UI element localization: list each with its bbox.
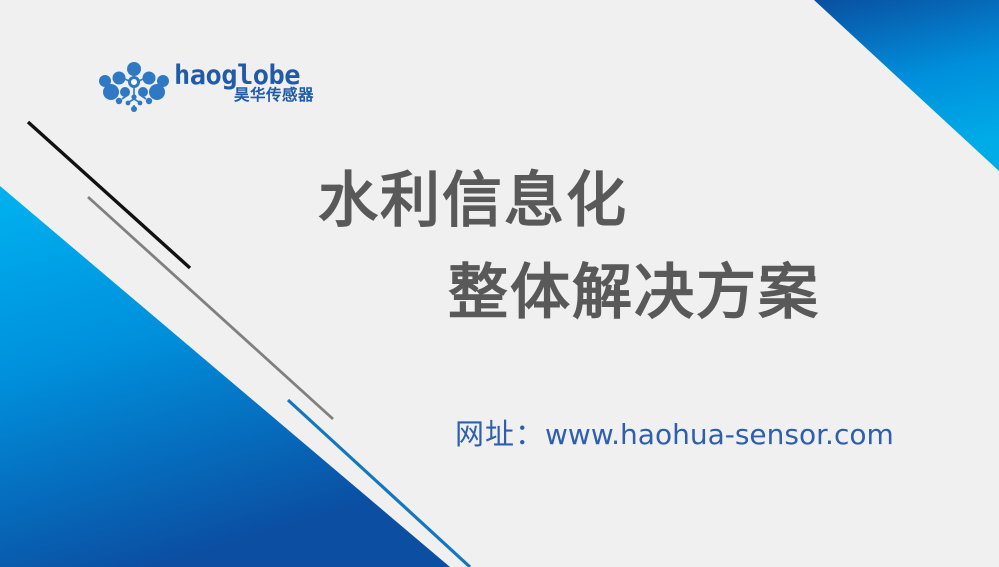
logo-text-group: haoglobe 昊华传感器 <box>174 58 314 118</box>
slide-title-block: 水利信息化 整体解决方案 <box>0 155 999 355</box>
company-logo[interactable]: haoglobe 昊华传感器 <box>98 58 313 120</box>
website-line: 网址：www.haohua-sensor.com <box>455 420 894 449</box>
website-label: 网址： <box>455 417 545 451</box>
presentation-slide: haoglobe 昊华传感器 水利信息化 整体解决方案 网址：www.haohu… <box>0 0 999 567</box>
title-line-2: 整体解决方案 <box>448 263 820 323</box>
haoglobe-network-dots-logo-icon <box>98 61 170 117</box>
website-url[interactable]: www.haohua-sensor.com <box>545 418 894 451</box>
logo-subtitle-cn: 昊华传感器 <box>174 88 314 104</box>
title-line-1: 水利信息化 <box>318 171 628 231</box>
